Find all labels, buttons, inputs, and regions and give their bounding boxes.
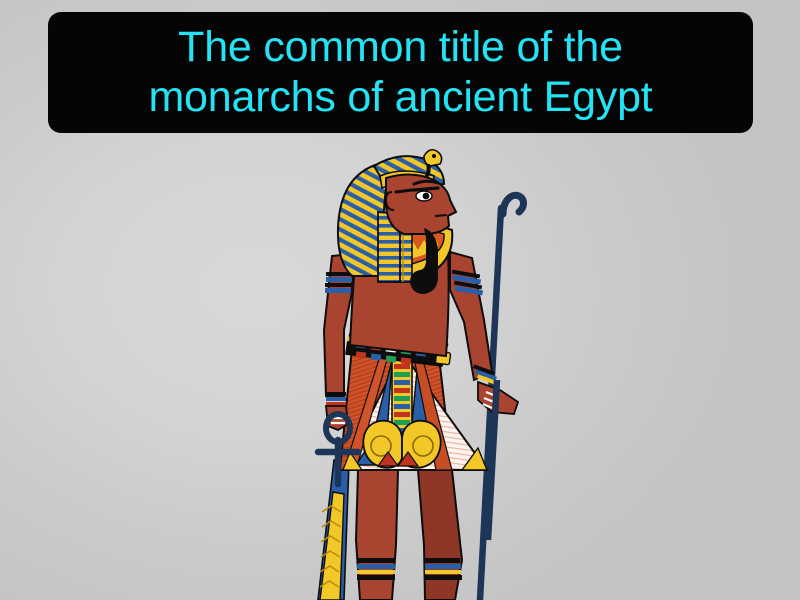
shendyt-kilt	[340, 348, 487, 470]
far-leg	[418, 470, 462, 600]
right-arm	[450, 252, 518, 414]
anklet-far	[424, 558, 462, 580]
anklet-near	[357, 558, 395, 580]
near-leg	[356, 470, 398, 600]
definition-banner: The common title of the monarchs of anci…	[48, 12, 753, 133]
illustration-card: The common title of the monarchs of anci…	[0, 0, 800, 600]
left-wrist-bracelet	[326, 392, 346, 406]
face-profile	[386, 174, 456, 234]
banner-text: The common title of the monarchs of anci…	[148, 23, 652, 121]
side-tail-sash	[318, 460, 349, 600]
